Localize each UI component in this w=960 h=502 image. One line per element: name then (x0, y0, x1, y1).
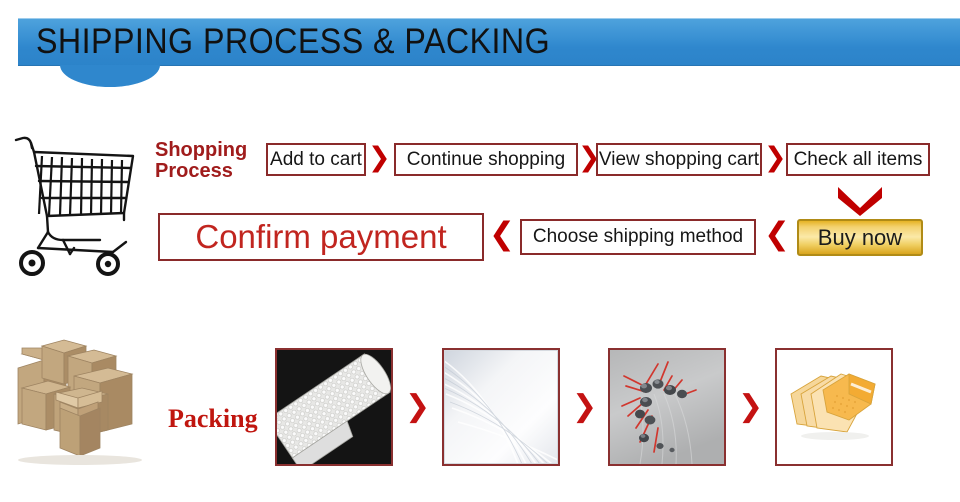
step-view-shopping-cart[interactable]: View shopping cart (596, 143, 762, 176)
packing-arrow-right-icon-3: ❯ (738, 392, 763, 422)
shipping-process-packing-page: SHIPPING PROCESS & PACKING (0, 0, 960, 502)
step-confirm-payment[interactable]: Confirm payment (158, 213, 484, 261)
arrow-down-icon (836, 184, 884, 216)
packing-section: Packing (0, 330, 960, 502)
packing-panel-bubble-wrap (275, 348, 393, 466)
cardboard-boxes-icon (8, 336, 178, 466)
shopping-process-label: Shopping Process (155, 140, 265, 182)
shopping-process-label-line1: Shopping (155, 140, 265, 161)
step-choose-shipping-method[interactable]: Choose shipping method (520, 219, 756, 255)
banner-notch-shape (60, 65, 160, 87)
packing-arrow-right-icon-2: ❯ (572, 392, 597, 422)
page-title: SHIPPING PROCESS & PACKING (36, 19, 550, 67)
packing-label: Packing (168, 404, 258, 434)
packing-panel-padded-envelopes (775, 348, 893, 466)
arrow-right-icon-3: ❯ (764, 144, 787, 171)
buy-now-button[interactable]: Buy now (797, 219, 923, 256)
step-add-to-cart[interactable]: Add to cart (266, 143, 366, 176)
packing-arrow-right-icon-1: ❯ (405, 392, 430, 422)
arrow-left-icon-1: ❮ (489, 219, 515, 250)
packing-panel-electronic-components (608, 348, 726, 466)
arrow-left-icon-2: ❮ (764, 219, 790, 250)
step-check-all-items[interactable]: Check all items (786, 143, 930, 176)
packing-panel-foam-wrap (442, 348, 560, 466)
shopping-cart-icon (8, 128, 143, 278)
step-continue-shopping[interactable]: Continue shopping (394, 143, 578, 176)
shopping-process-label-line2: Process (155, 161, 265, 182)
shopping-process-section: Shopping Process Add to cart ❯ Continue … (0, 118, 960, 298)
arrow-right-icon-1: ❯ (368, 144, 391, 171)
